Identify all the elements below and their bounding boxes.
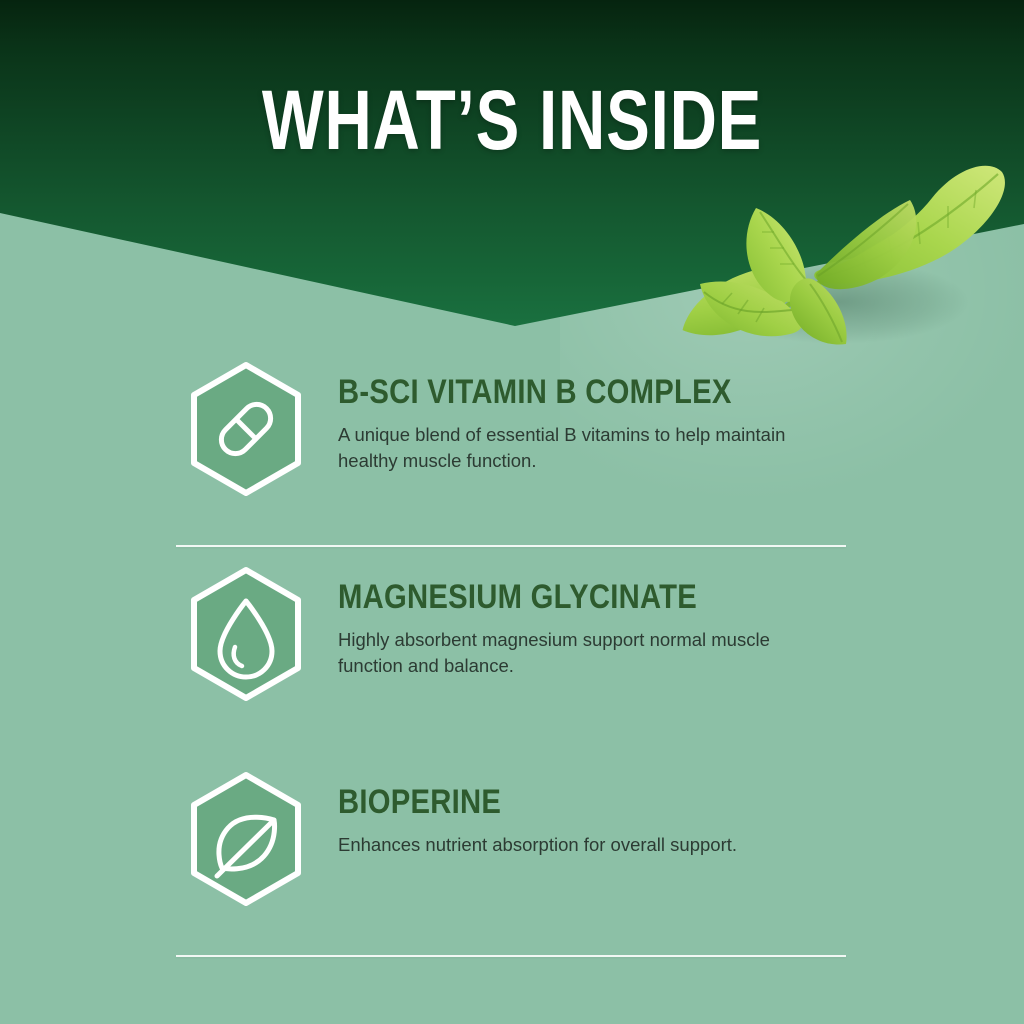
feature-row[interactable]: MAGNESIUM GLYCINATE Highly absorbent mag… [0, 557, 1024, 735]
feature-row[interactable]: B-SCI VITAMIN B COMPLEX A unique blend o… [0, 352, 1024, 530]
page-title: WHAT’S INSIDE [113, 76, 912, 164]
feature-text: B-SCI VITAMIN B COMPLEX A unique blend o… [338, 352, 838, 474]
leaf-icon [186, 770, 306, 908]
feature-title: B-SCI VITAMIN B COMPLEX [338, 374, 768, 410]
feature-list: B-SCI VITAMIN B COMPLEX A unique blend o… [0, 352, 1024, 940]
capsule-pill-icon [186, 360, 306, 498]
feature-description: Highly absorbent magnesium support norma… [338, 627, 818, 679]
row-divider [176, 545, 846, 547]
feature-title: MAGNESIUM GLYCINATE [338, 579, 768, 615]
feature-description: A unique blend of essential B vitamins t… [338, 422, 818, 474]
product-ingredients-infographic: WHAT’S INSIDE [0, 0, 1024, 1024]
feature-row[interactable]: BIOPERINE Enhances nutrient absorption f… [0, 762, 1024, 940]
feature-text: MAGNESIUM GLYCINATE Highly absorbent mag… [338, 557, 838, 679]
water-droplet-icon [186, 565, 306, 703]
feature-description: Enhances nutrient absorption for overall… [338, 832, 818, 858]
feature-text: BIOPERINE Enhances nutrient absorption f… [338, 762, 838, 858]
row-divider [176, 955, 846, 957]
feature-title: BIOPERINE [338, 784, 768, 820]
